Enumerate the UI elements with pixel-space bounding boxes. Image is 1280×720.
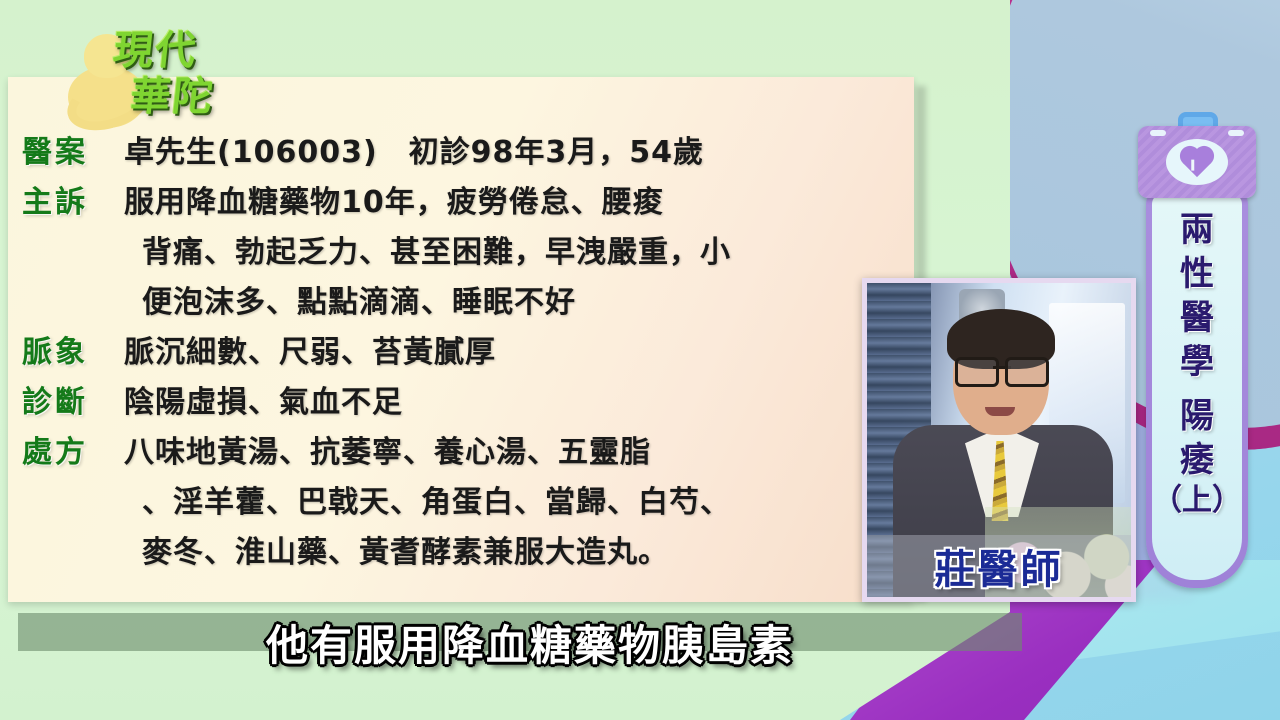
record-label-zhenduan: 診斷 <box>22 378 124 428</box>
record-text-zhusu-2: 背痛、勃起乏力、甚至困難，早洩嚴重，小 <box>124 228 731 278</box>
glasses-icon <box>955 357 1049 381</box>
badge-title-text: 兩 性 醫 學 陽 痿 （上） <box>1152 208 1242 578</box>
program-logo: 現代 華陀 <box>52 26 282 136</box>
topic-badge: 兩 性 醫 學 陽 痿 （上） <box>1138 112 1256 590</box>
record-label-yian: 醫案 <box>22 128 124 178</box>
badge-char-1: 兩 <box>1180 208 1214 252</box>
record-row-zhenduan: 診斷 陰陽虛損、氣血不足 <box>22 378 902 428</box>
record-text-chufang-3: 麥冬、淮山藥、黃耆酵素兼服大造丸。 <box>124 528 669 578</box>
case-record: 醫案 卓先生(106003) 初診98年3月，54歲 主訴 服用降血糖藥物10年… <box>22 128 902 578</box>
record-text-zhenduan: 陰陽虛損、氣血不足 <box>124 378 403 428</box>
heart-icon <box>1166 139 1228 185</box>
logo-line-2: 華陀 <box>128 74 286 120</box>
record-label-maixiang: 脈象 <box>22 328 124 378</box>
medical-bag-icon <box>1138 126 1256 198</box>
broadcast-screen: 現代 華陀 醫案 卓先生(106003) 初診98年3月，54歲 主訴 服用降血… <box>0 0 1280 720</box>
badge-sub-char-2: 痿 <box>1180 438 1214 482</box>
badge-char-3: 醫 <box>1180 296 1214 340</box>
badge-char-4: 學 <box>1180 340 1214 384</box>
record-text-zhusu-3: 便泡沫多、點點滴滴、睡眠不好 <box>124 278 576 328</box>
subtitle-text: 他有服用降血糖藥物胰島素 <box>0 612 1060 673</box>
record-row-chufang: 處方 八味地黃湯、抗萎寧、養心湯、五靈脂 <box>22 428 902 478</box>
badge-part-label: （上） <box>1152 482 1242 520</box>
record-text-chufang-2: 、淫羊藿、巴戟天、角蛋白、當歸、白芍、 <box>124 478 731 528</box>
record-row-chufang-cont-1: 處方 、淫羊藿、巴戟天、角蛋白、當歸、白芍、 <box>22 478 902 528</box>
doctor-name: 莊醫師 <box>867 537 1131 595</box>
record-label-zhusu: 主訴 <box>22 178 124 228</box>
record-row-zhusu-cont-1: 主訴 背痛、勃起乏力、甚至困難，早洩嚴重，小 <box>22 228 902 278</box>
record-text-chufang-1: 八味地黃湯、抗萎寧、養心湯、五靈脂 <box>124 428 651 478</box>
record-text-zhusu-1: 服用降血糖藥物10年，疲勞倦怠、腰痠 <box>124 178 664 228</box>
record-row-zhusu-cont-2: 主訴 便泡沫多、點點滴滴、睡眠不好 <box>22 278 902 328</box>
record-label-chufang: 處方 <box>22 428 124 478</box>
doctor-video-inset: 莊醫師 <box>862 278 1136 602</box>
record-row-yian: 醫案 卓先生(106003) 初診98年3月，54歲 <box>22 128 902 178</box>
doctor-mouth <box>985 407 1015 416</box>
badge-char-2: 性 <box>1180 252 1214 296</box>
record-text-maixiang: 脈沉細數、尺弱、苔黃膩厚 <box>124 328 496 378</box>
record-row-chufang-cont-2: 處方 麥冬、淮山藥、黃耆酵素兼服大造丸。 <box>22 528 902 578</box>
program-logo-text: 現代 華陀 <box>104 28 291 138</box>
record-row-maixiang: 脈象 脈沉細數、尺弱、苔黃膩厚 <box>22 328 902 378</box>
logo-line-1: 現代 <box>111 28 200 74</box>
badge-sub-char-1: 陽 <box>1180 394 1214 438</box>
record-text-yian: 卓先生(106003) 初診98年3月，54歲 <box>124 128 704 178</box>
record-row-zhusu: 主訴 服用降血糖藥物10年，疲勞倦怠、腰痠 <box>22 178 902 228</box>
